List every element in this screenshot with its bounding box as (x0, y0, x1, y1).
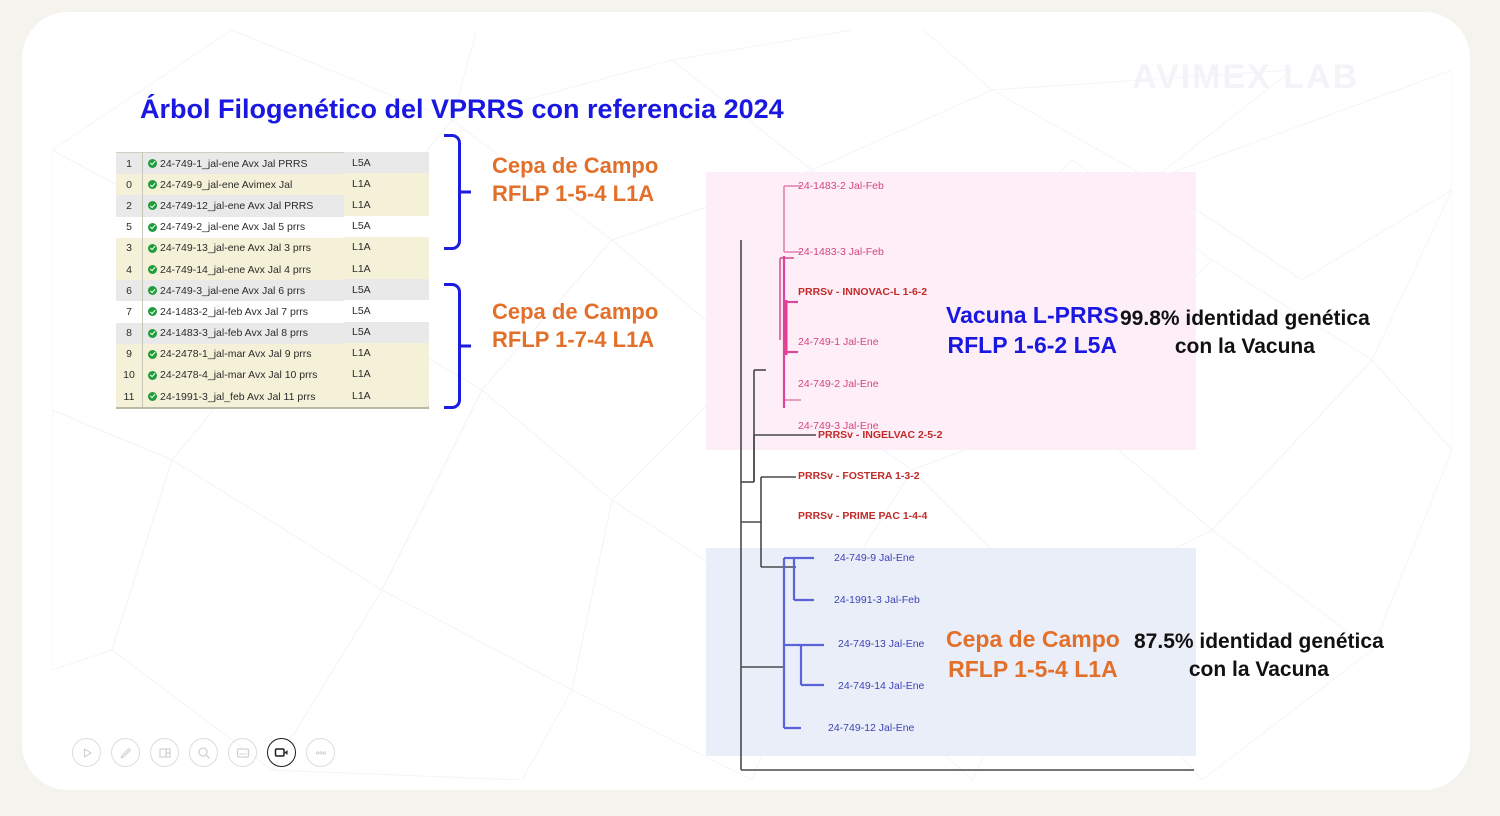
check-circle-icon (148, 371, 157, 380)
check-circle-icon (148, 392, 157, 401)
field-identity-line2: con la Vacuna (1189, 658, 1329, 681)
play-button[interactable] (72, 738, 101, 767)
play-icon (80, 746, 94, 760)
field-callout: Cepa de Campo RFLP 1-5-4 L1A (946, 624, 1120, 684)
row-index: 9 (116, 344, 143, 365)
check-circle-icon (148, 307, 157, 316)
tree-tip-label: 24-1483-3 Jal-Feb (798, 246, 884, 258)
clade-cell: L1A (344, 237, 429, 258)
check-circle-icon (148, 201, 157, 210)
row-index: 5 (116, 217, 143, 238)
clade-column[interactable]: L5A L1A L1A L5A L1A L1A L5A L5A L5A L1A … (344, 152, 429, 406)
brace-label-1-line2: RFLP 1-5-4 L1A (492, 181, 654, 206)
tree-tip-label: PRRSv - INNOVAC-L 1-6-2 (798, 286, 927, 298)
vaccine-callout: Vacuna L-PRRS RFLP 1-6-2 L5A (946, 300, 1119, 360)
captions-button[interactable] (228, 738, 257, 767)
check-circle-icon (148, 180, 157, 189)
sequence-label: 24-1483-2_jal-feb Avx Jal 7 prrs (160, 306, 308, 318)
search-icon (196, 745, 212, 761)
vaccine-identity-callout: 99.8% identidad genética con la Vacuna (1120, 305, 1370, 361)
vaccine-identity-line1: 99.8% identidad genética (1120, 307, 1370, 330)
vaccine-callout-line2: RFLP 1-6-2 L5A (947, 332, 1117, 358)
clade-cell: L5A (344, 279, 429, 300)
row-index: 10 (116, 365, 143, 386)
video-camera-icon (273, 744, 290, 761)
sequence-label: 24-2478-1_jal-mar Avx Jal 9 prrs (160, 348, 312, 360)
brace-label-1: Cepa de Campo RFLP 1-5-4 L1A (492, 152, 658, 208)
row-index: 0 (116, 174, 143, 195)
pen-button[interactable] (111, 738, 140, 767)
row-index: 3 (116, 238, 143, 259)
watermark: AVIMEX LAB (1132, 58, 1359, 97)
clade-cell: L1A (344, 343, 429, 364)
video-camera-button[interactable] (267, 738, 296, 767)
captions-icon (235, 745, 251, 761)
slide-card: AVIMEX LAB Árbol Filogenético del VPRRS … (22, 12, 1470, 790)
field-callout-line1: Cepa de Campo (946, 626, 1120, 652)
tree-tip-label: 24-749-1 Jal-Ene (798, 336, 879, 348)
sequence-label: 24-749-13_jal-ene Avx Jal 3 prrs (160, 242, 311, 254)
layout-icon (157, 745, 173, 761)
clade-cell: L5A (344, 216, 429, 237)
more-icon (313, 745, 329, 761)
row-index: 2 (116, 195, 143, 216)
brace-label-2-line2: RFLP 1-7-4 L1A (492, 327, 654, 352)
vaccine-identity-line2: con la Vacuna (1175, 335, 1315, 358)
brace-label-2-line1: Cepa de Campo (492, 299, 658, 324)
sequence-label: 24-1483-3_jal-feb Avx Jal 8 prrs (160, 327, 308, 339)
check-circle-icon (148, 286, 157, 295)
clade-cell: L1A (344, 194, 429, 215)
clade-cell: L1A (344, 258, 429, 279)
sequence-label: 24-1991-3_jal_feb Avx Jal 11 prrs (160, 391, 315, 403)
field-callout-line2: RFLP 1-5-4 L1A (948, 656, 1118, 682)
tree-tip-label: 24-749-2 Jal-Ene (798, 378, 879, 390)
more-button[interactable] (306, 738, 335, 767)
field-identity-callout: 87.5% identidad genética con la Vacuna (1134, 628, 1384, 684)
check-circle-icon (148, 350, 157, 359)
tree-tip-label: PRRSv - FOSTERA 1-3-2 (798, 470, 920, 482)
row-index: 1 (116, 153, 143, 174)
screen-background: AVIMEX LAB Árbol Filogenético del VPRRS … (0, 0, 1500, 816)
presentation-toolbar[interactable] (72, 738, 335, 767)
clade-cell: L1A (344, 364, 429, 385)
clade-cell: L1A (344, 385, 429, 406)
sequence-label: 24-749-14_jal-ene Avx Jal 4 prrs (160, 264, 311, 276)
phylogenetic-tree[interactable]: 24-1483-2 Jal-Feb 24-1483-3 Jal-Feb PRRS… (706, 140, 1266, 780)
tree-tip-label: PRRSv - PRIME PAC 1-4-4 (798, 510, 927, 522)
check-circle-icon (148, 159, 157, 168)
layout-button[interactable] (150, 738, 179, 767)
tree-tip-label: 24-1991-3 Jal-Feb (834, 594, 920, 606)
tree-tip-label: 24-749-9 Jal-Ene (834, 552, 915, 564)
check-circle-icon (148, 329, 157, 338)
brace-label-2: Cepa de Campo RFLP 1-7-4 L1A (492, 298, 658, 354)
check-circle-icon (148, 244, 157, 253)
clade-cell: L1A (344, 173, 429, 194)
sequence-label: 24-749-2_jal-ene Avx Jal 5 prrs (160, 221, 305, 233)
clade-cell: L5A (344, 300, 429, 321)
clade-cell: L5A (344, 152, 429, 173)
tree-branches (706, 140, 1266, 780)
row-index: 4 (116, 259, 143, 280)
sequence-label: 24-749-9_jal-ene Avimex Jal (160, 179, 292, 191)
brace-group-2 (444, 283, 461, 409)
tree-tip-label: 24-749-14 Jal-Ene (838, 680, 924, 692)
row-index: 6 (116, 280, 143, 301)
row-index: 11 (116, 386, 143, 407)
clade-cell: L5A (344, 322, 429, 343)
row-index: 7 (116, 301, 143, 322)
check-circle-icon (148, 223, 157, 232)
tree-tip-label: 24-749-12 Jal-Ene (828, 722, 914, 734)
check-circle-icon (148, 265, 157, 274)
sequence-label: 24-749-1_jal-ene Avx Jal PRRS (160, 158, 307, 170)
tree-tip-label: 24-749-13 Jal-Ene (838, 638, 924, 650)
vaccine-callout-line1: Vacuna L-PRRS (946, 302, 1119, 328)
slide-canvas: AVIMEX LAB Árbol Filogenético del VPRRS … (52, 30, 1452, 780)
page-title: Árbol Filogenético del VPRRS con referen… (140, 94, 784, 125)
field-identity-line1: 87.5% identidad genética (1134, 630, 1384, 653)
sequence-label: 24-2478-4_jal-mar Avx Jal 10 prrs (160, 369, 317, 381)
row-index: 8 (116, 323, 143, 344)
tree-tip-label: 24-1483-2 Jal-Feb (798, 180, 884, 192)
sequence-label: 24-749-12_jal-ene Avx Jal PRRS (160, 200, 313, 212)
brace-group-1 (444, 134, 461, 250)
tree-tip-label: PRRSv - INGELVAC 2-5-2 (818, 429, 942, 441)
zoom-button[interactable] (189, 738, 218, 767)
pen-icon (118, 745, 134, 761)
sequence-label: 24-749-3_jal-ene Avx Jal 6 prrs (160, 285, 305, 297)
brace-label-1-line1: Cepa de Campo (492, 153, 658, 178)
